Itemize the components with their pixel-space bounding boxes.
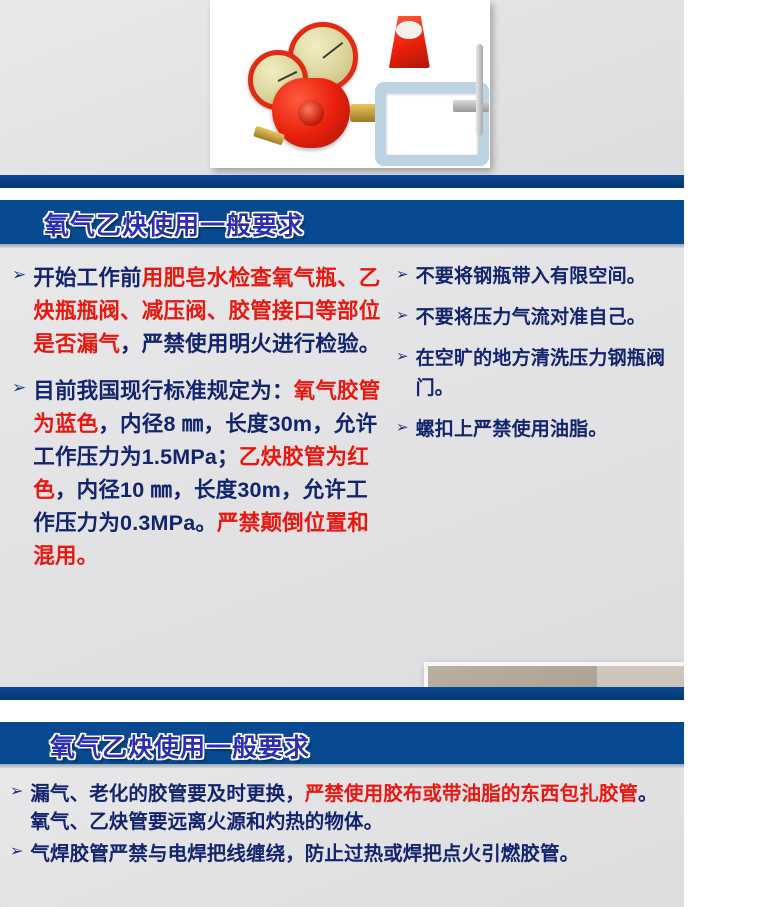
slide-footer-bar <box>0 687 684 700</box>
content-body: ➢ 漏气、老化的胶管要及时更换，严禁使用胶布或带油脂的东西包扎胶管。氧气、乙炔管… <box>10 780 674 872</box>
bullet-arrow-icon: ➢ <box>12 379 26 396</box>
page-title: 氧气乙炔使用一般要求 <box>50 728 310 764</box>
bullet-text: 漏气、老化的胶管要及时更换，严禁使用胶布或带油脂的东西包扎胶管。氧气、乙炔管要远… <box>30 780 674 836</box>
bullet-text: 目前我国现行标准规定为：氧气胶管为蓝色，内径8 ㎜，长度30m，允许工作压力为1… <box>33 375 388 573</box>
clamp-handle <box>476 44 483 136</box>
list-item: ➢ 开始工作前用肥皂水检查氧气瓶、乙炔瓶瓶阀、减压阀、胶管接口等部位是否漏气，严… <box>12 262 388 361</box>
brass-fitting <box>350 104 378 122</box>
regulator-adjust-knob <box>298 100 324 126</box>
header-divider <box>0 764 684 768</box>
bullet-arrow-icon: ➢ <box>10 784 23 800</box>
list-item: ➢ 目前我国现行标准规定为：氧气胶管为蓝色，内径8 ㎜，长度30m，允许工作压力… <box>12 375 388 573</box>
list-item: ➢ 漏气、老化的胶管要及时更换，严禁使用胶布或带油脂的东西包扎胶管。氧气、乙炔管… <box>10 780 674 836</box>
slide-footer-bar <box>0 175 684 188</box>
left-column: ➢ 开始工作前用肥皂水检查氧气瓶、乙炔瓶瓶阀、减压阀、胶管接口等部位是否漏气，严… <box>12 262 388 587</box>
bullet-arrow-icon: ➢ <box>396 349 409 364</box>
text-segment: 漏气、老化的胶管要及时更换， <box>30 783 304 805</box>
clamp-bolt <box>453 100 489 112</box>
slide-general-requirements-1: 氧气乙炔使用一般要求 ➢ 开始工作前用肥皂水检查氧气瓶、乙炔瓶瓶阀、减压阀、胶管… <box>0 200 684 700</box>
bullet-text: 不要将压力气流对准自己。 <box>416 303 676 333</box>
text-segment: 开始工作前 <box>33 266 142 290</box>
bullet-text: 在空旷的地方清洗压力钢瓶阀门。 <box>416 344 676 404</box>
bullet-arrow-icon: ➢ <box>396 420 409 435</box>
right-column: ➢ 不要将钢瓶带入有限空间。 ➢ 不要将压力气流对准自己。 ➢ 在空旷的地方清洗… <box>396 262 676 456</box>
cylinder-clamp <box>375 82 489 166</box>
content-columns: ➢ 开始工作前用肥皂水检查氧气瓶、乙炔瓶瓶阀、减压阀、胶管接口等部位是否漏气，严… <box>0 248 684 687</box>
list-item: ➢ 气焊胶管严禁与电焊把线缠绕，防止过热或焊把点火引燃胶管。 <box>10 840 674 868</box>
bullet-arrow-icon: ➢ <box>12 266 26 283</box>
bullet-arrow-icon: ➢ <box>10 844 23 860</box>
red-protective-cap <box>388 16 430 68</box>
list-item: ➢ 不要将压力气流对准自己。 <box>396 303 676 333</box>
text-segment: ，严禁使用明火进行检验。 <box>120 332 380 356</box>
bullet-text: 不要将钢瓶带入有限空间。 <box>416 262 676 292</box>
bullet-arrow-icon: ➢ <box>396 308 409 323</box>
slide-header-bar: 氧气乙炔使用一般要求 <box>0 722 684 768</box>
page-title: 氧气乙炔使用一般要求 <box>44 206 304 242</box>
bullet-text: 开始工作前用肥皂水检查氧气瓶、乙炔瓶瓶阀、减压阀、胶管接口等部位是否漏气，严禁使… <box>33 262 388 361</box>
list-item: ➢ 螺扣上严禁使用油脂。 <box>396 415 676 445</box>
slide-header-bar: 氧气乙炔使用一般要求 <box>0 200 684 248</box>
slide-regulator-photo <box>0 0 684 188</box>
list-item: ➢ 不要将钢瓶带入有限空间。 <box>396 262 676 292</box>
list-item: ➢ 在空旷的地方清洗压力钢瓶阀门。 <box>396 344 676 404</box>
bullet-text: 螺扣上严禁使用油脂。 <box>416 415 676 445</box>
slide-general-requirements-2: 氧气乙炔使用一般要求 ➢ 漏气、老化的胶管要及时更换，严禁使用胶布或带油脂的东西… <box>0 722 684 907</box>
text-segment: 严禁使用胶布或带油脂的东西包扎胶管 <box>305 783 638 805</box>
text-segment: 目前我国现行标准规定为： <box>33 379 293 403</box>
regulator-product-photo <box>210 0 490 168</box>
regulator-illustration <box>210 0 490 168</box>
slide-deck: 氧气乙炔使用一般要求 ➢ 开始工作前用肥皂水检查氧气瓶、乙炔瓶瓶阀、减压阀、胶管… <box>0 0 760 907</box>
bullet-text: 气焊胶管严禁与电焊把线缠绕，防止过热或焊把点火引燃胶管。 <box>30 840 674 868</box>
bullet-arrow-icon: ➢ <box>396 267 409 282</box>
